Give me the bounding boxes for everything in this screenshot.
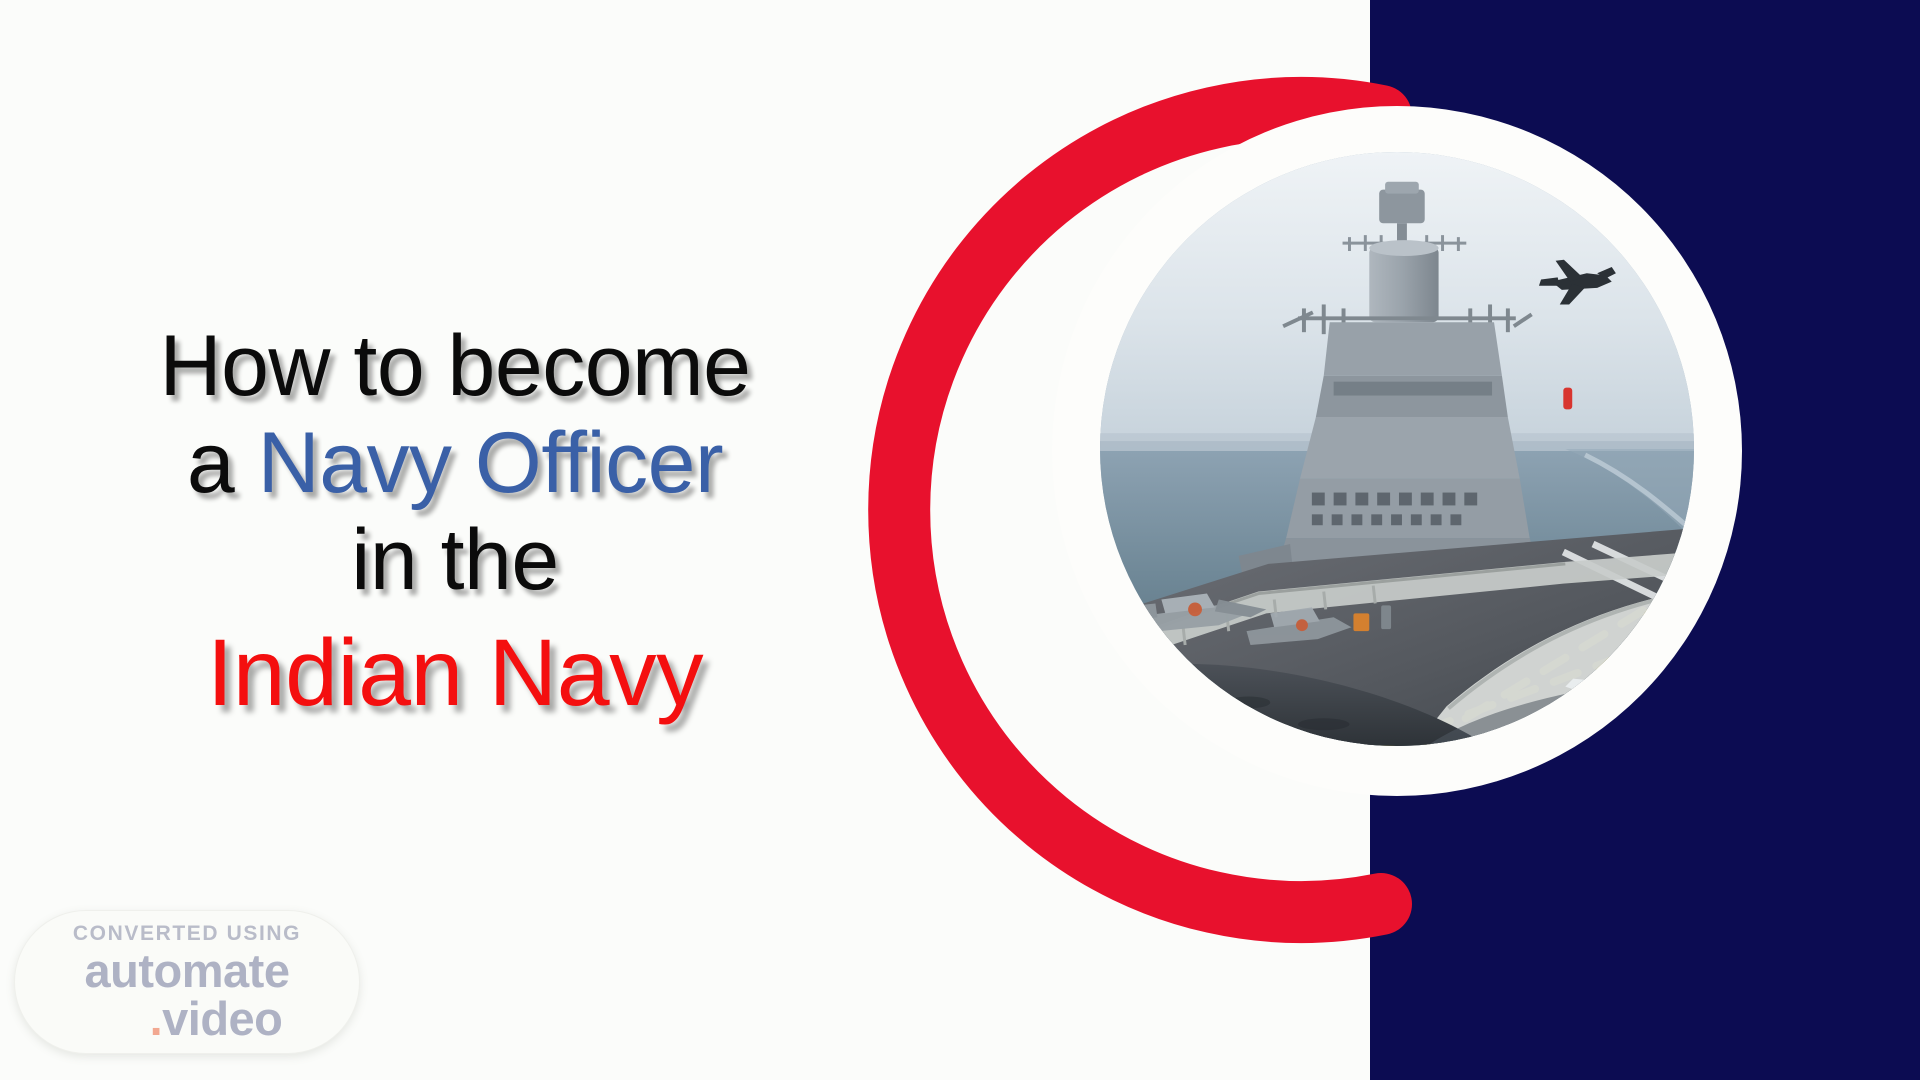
headline-line-3: in the [100,512,810,609]
watermark-dot: . [150,992,163,1045]
headline-line-2-highlight: Navy Officer [258,415,724,511]
circular-media-composition [930,90,1770,930]
watermark-brand: automate [85,948,290,994]
carrier-photo-circle [1100,152,1694,746]
watermark-domain-text: video [162,992,282,1045]
headline-line-2: a Navy Officer [100,415,810,512]
headline-line-1: How to become [100,318,810,415]
headline-line-4: Indian Navy [100,620,810,727]
slide-canvas: How to become a Navy Officer in the Indi… [0,0,1920,1080]
automate-video-watermark: CONVERTED USING automate .video [14,910,360,1054]
watermark-kicker: CONVERTED USING [73,922,301,946]
headline-line-2-prefix: a [187,415,258,511]
watermark-domain: .video [150,995,283,1042]
carrier-photo-illustration [1100,152,1694,746]
headline-block: How to become a Navy Officer in the Indi… [100,318,810,727]
